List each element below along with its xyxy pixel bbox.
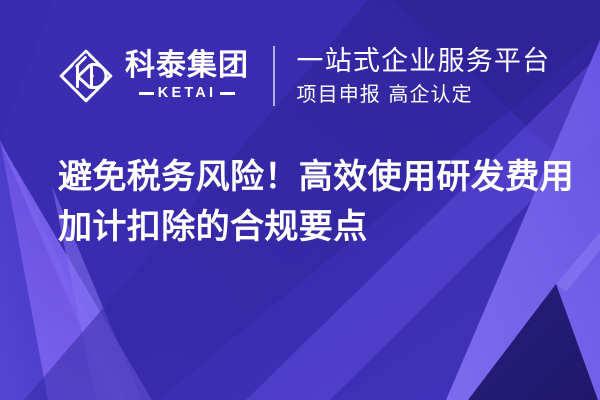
company-name-cn: 科泰集团 bbox=[125, 51, 249, 81]
brand-tagline: 一站式企业服务平台 项目申报 高企认定 bbox=[297, 47, 551, 104]
tagline-sub: 项目申报 高企认定 bbox=[297, 83, 551, 105]
headline-block: 避免税务风险！高效使用研发费用 加计扣除的合规要点 bbox=[58, 152, 568, 252]
brand-wordmark: 科泰集团 KETAI bbox=[125, 51, 249, 101]
wordmark-rule-left-icon bbox=[139, 92, 154, 95]
headline-line-1: 避免税务风险！高效使用研发费用 bbox=[58, 152, 568, 202]
tagline-main: 一站式企业服务平台 bbox=[297, 47, 551, 77]
company-name-en-row: KETAI bbox=[125, 86, 249, 101]
wordmark-rule-right-icon bbox=[220, 92, 235, 95]
promo-banner: 科泰集团 KETAI 一站式企业服务平台 项目申报 高企认定 避免税务风险！高效… bbox=[0, 0, 600, 400]
company-name-en: KETAI bbox=[158, 86, 216, 101]
header-divider-icon bbox=[273, 46, 275, 106]
logo-mark-svg bbox=[58, 48, 114, 104]
headline-line-2: 加计扣除的合规要点 bbox=[58, 202, 568, 252]
ketai-diamond-kd-monogram-icon bbox=[58, 48, 114, 104]
banner-header: 科泰集团 KETAI 一站式企业服务平台 项目申报 高企认定 bbox=[58, 40, 558, 112]
brand-logo[interactable]: 科泰集团 KETAI bbox=[58, 40, 249, 112]
